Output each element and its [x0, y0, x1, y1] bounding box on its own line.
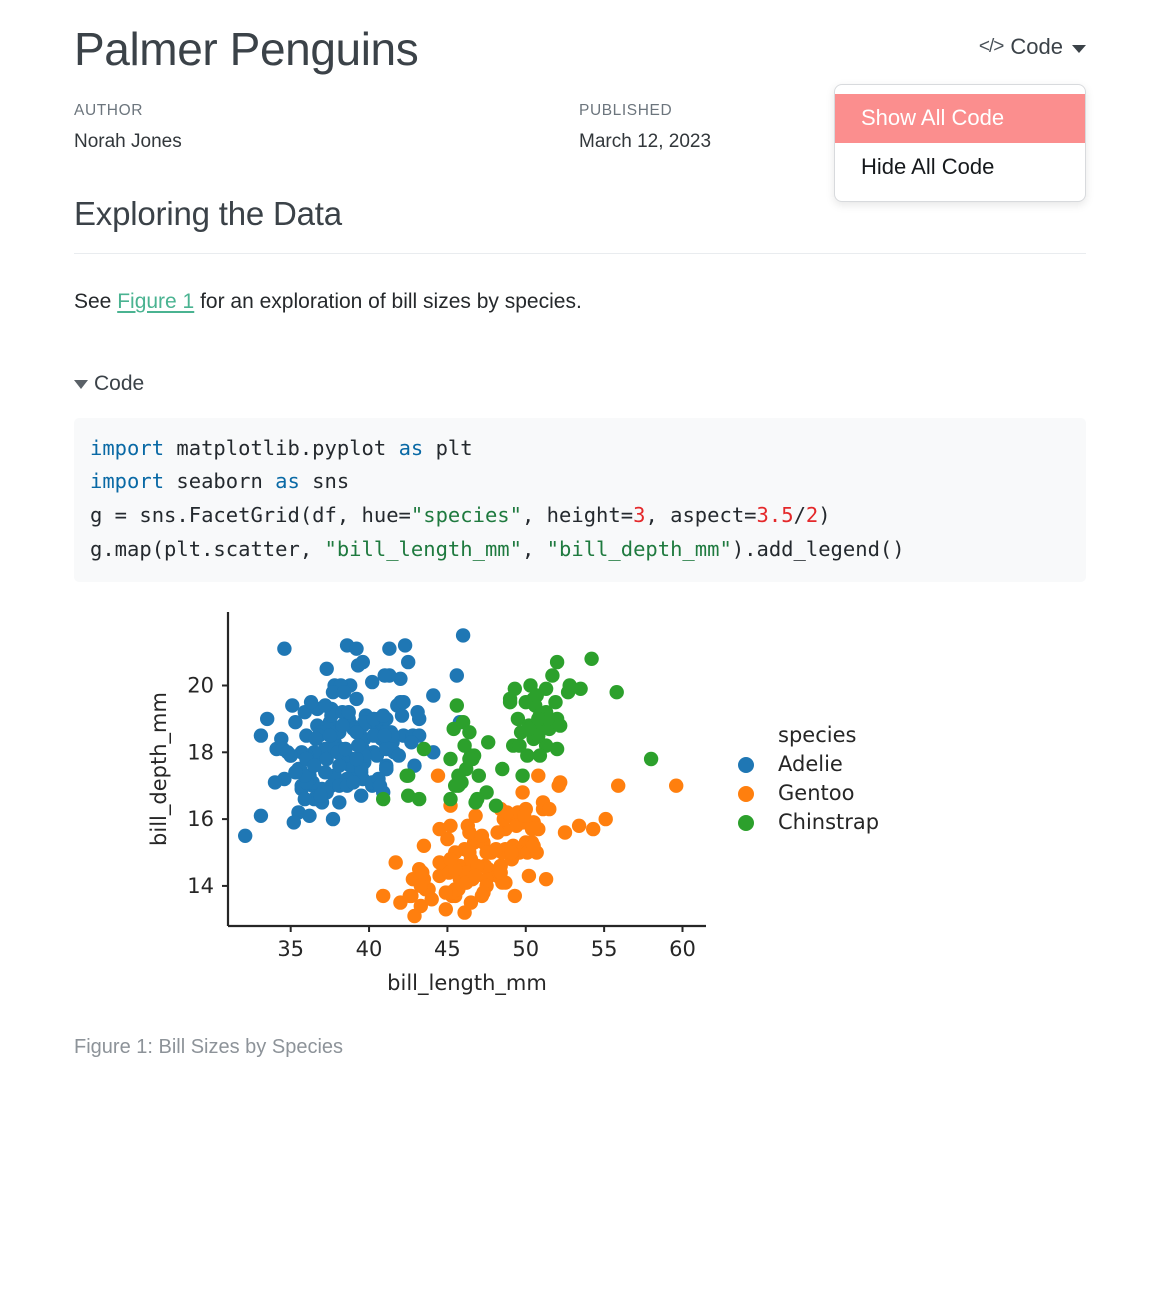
x-tick-label: 50	[512, 937, 539, 961]
y-tick-label: 16	[187, 807, 214, 831]
x-tick-label: 35	[277, 937, 304, 961]
code-token: , height=	[522, 503, 633, 527]
author-label: AUTHOR	[74, 99, 579, 124]
legend-label-gentoo: Gentoo	[778, 781, 854, 805]
x-tick-label: 55	[591, 937, 618, 961]
section-heading: Exploring the Data	[74, 195, 1086, 233]
code-token: ).add_legend()	[732, 537, 905, 561]
author-block: AUTHOR Norah Jones	[74, 99, 579, 157]
series-gentoo	[376, 769, 683, 924]
legend-marker-gentoo	[738, 786, 754, 802]
code-token: as	[275, 469, 300, 493]
y-axis-label: bill_depth_mm	[147, 692, 172, 846]
series-adelie	[238, 628, 470, 843]
code-token: "species"	[411, 503, 522, 527]
legend-label-chinstrap: Chinstrap	[778, 810, 879, 834]
code-token: plt	[423, 436, 472, 460]
legend-marker-adelie	[738, 757, 754, 773]
legend-title: species	[778, 723, 856, 747]
x-tick-label: 60	[669, 937, 696, 961]
figure-caption: Figure 1: Bill Sizes by Species	[74, 1036, 1086, 1059]
code-token: g.map(plt.scatter,	[90, 537, 325, 561]
metadata-row: AUTHOR Norah Jones PUBLISHED March 12, 2…	[74, 99, 1086, 157]
x-tick-label: 45	[434, 937, 461, 961]
section-divider	[74, 253, 1086, 254]
code-fold-toggle[interactable]: Code	[74, 372, 144, 396]
document-page: </> Code Show All Code Hide All Code Pal…	[0, 0, 1160, 1306]
code-token: sns	[300, 469, 349, 493]
code-token: 2	[806, 503, 818, 527]
code-token: ,	[522, 537, 547, 561]
code-fold-label: Code	[94, 372, 144, 396]
code-token: 3.5	[757, 503, 794, 527]
legend-label-adelie: Adelie	[778, 752, 843, 776]
figure-1-link[interactable]: Figure 1	[117, 290, 194, 313]
published-value: March 12, 2023	[579, 126, 1084, 157]
code-block[interactable]: import matplotlib.pyplot as plt import s…	[74, 418, 1086, 582]
legend-marker-chinstrap	[738, 815, 754, 831]
code-token: import	[90, 436, 164, 460]
code-token: seaborn	[164, 469, 275, 493]
published-block: PUBLISHED March 12, 2023	[579, 99, 1084, 157]
x-axis-label: bill_length_mm	[387, 971, 547, 996]
x-tick-label: 40	[356, 937, 383, 961]
code-token: matplotlib.pyplot	[164, 436, 399, 460]
paragraph-text-before: See	[74, 290, 117, 313]
intro-paragraph: See Figure 1 for an exploration of bill …	[74, 286, 1086, 318]
y-tick-label: 20	[187, 674, 214, 698]
published-label: PUBLISHED	[579, 99, 1084, 124]
scatter-plot: 35404550556014161820bill_length_mmbill_d…	[74, 604, 1086, 1014]
code-token: 3	[633, 503, 645, 527]
y-tick-label: 14	[187, 874, 214, 898]
code-token: )	[818, 503, 830, 527]
author-value: Norah Jones	[74, 126, 579, 157]
page-title: Palmer Penguins	[74, 0, 1086, 77]
code-token: /	[794, 503, 806, 527]
paragraph-text-after: for an exploration of bill sizes by spec…	[194, 290, 582, 313]
triangle-down-icon	[74, 380, 88, 389]
figure-1: 35404550556014161820bill_length_mmbill_d…	[74, 604, 1086, 1059]
code-token: g = sns.FacetGrid(df, hue=	[90, 503, 411, 527]
code-token: as	[399, 436, 424, 460]
y-tick-label: 18	[187, 741, 214, 765]
code-token: "bill_depth_mm"	[547, 537, 732, 561]
code-token: import	[90, 469, 164, 493]
code-token: , aspect=	[645, 503, 756, 527]
code-token: "bill_length_mm"	[325, 537, 522, 561]
